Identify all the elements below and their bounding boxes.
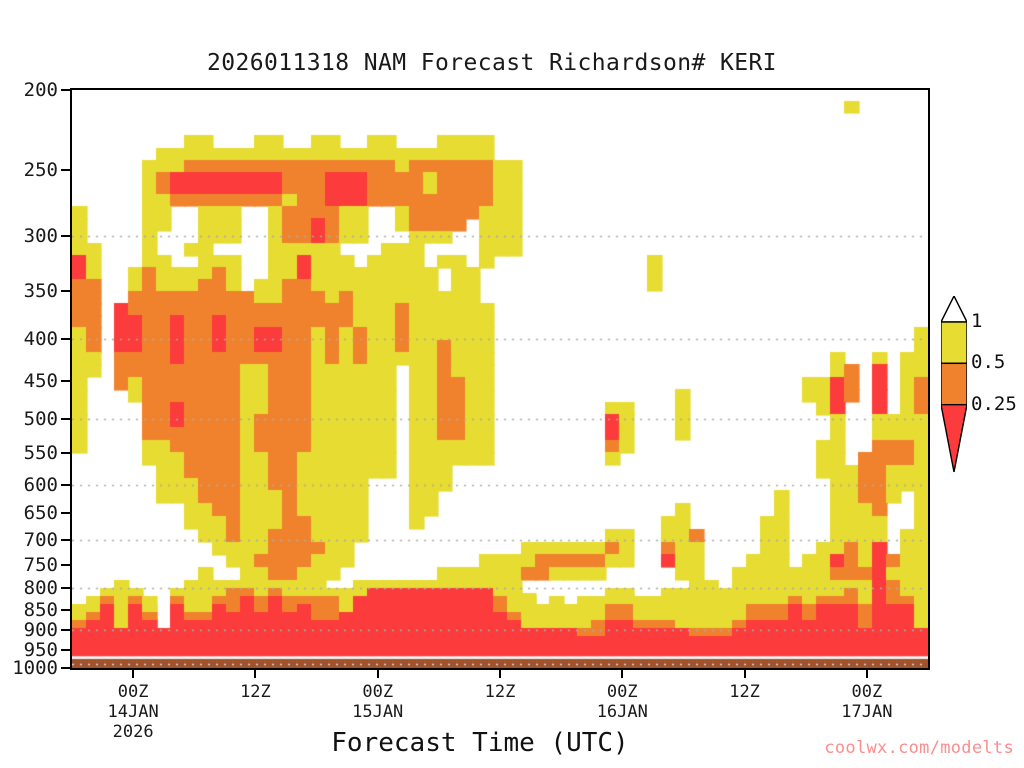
y-tick-mark [61, 609, 70, 611]
x-tick-mark [499, 670, 501, 678]
y-tick-mark [61, 169, 70, 171]
x-tick-label: 00Z17JAN [807, 682, 927, 722]
y-tick-label: 1000 [0, 657, 58, 679]
colorbar-band-lt-0_25 [941, 405, 967, 472]
y-tick-mark [61, 235, 70, 237]
y-tick-mark [61, 452, 70, 454]
colorbar-label: 0.5 [971, 351, 1005, 373]
y-tick-label: 250 [0, 159, 58, 181]
y-tick-label: 850 [0, 599, 58, 621]
x-tick-mark [377, 670, 379, 678]
x-tick-time: 00Z [73, 682, 193, 702]
x-tick-date: 16JAN [562, 702, 682, 722]
y-tick-mark [61, 89, 70, 91]
x-tick-mark [866, 670, 868, 678]
x-tick-mark [621, 670, 623, 678]
y-tick-mark [61, 667, 70, 669]
colorbar-band-gt-1 [941, 296, 967, 322]
plot-area [70, 88, 930, 670]
y-tick-label: 400 [0, 328, 58, 350]
x-tick-mark [744, 670, 746, 678]
x-tick-date: 14JAN [73, 702, 193, 722]
page-title: 2026011318 NAM Forecast Richardson# KERI [0, 50, 1004, 76]
x-tick-label: 12Z [440, 682, 560, 702]
x-tick-mark [254, 670, 256, 678]
x-tick-date: 17JAN [807, 702, 927, 722]
y-tick-mark [61, 380, 70, 382]
colorbar-label: 1 [971, 310, 982, 332]
y-tick-label: 300 [0, 225, 58, 247]
x-axis-title: Forecast Time (UTC) [50, 728, 910, 758]
y-tick-mark [61, 338, 70, 340]
y-tick-mark [61, 564, 70, 566]
x-tick-time: 00Z [807, 682, 927, 702]
y-tick-label: 700 [0, 529, 58, 551]
heatmap-canvas [72, 90, 928, 668]
colorbar-band-0.5-1 [941, 322, 967, 363]
x-tick-label: 12Z [195, 682, 315, 702]
chart-root: 2026011318 NAM Forecast Richardson# KERI… [0, 0, 1024, 768]
y-tick-mark [61, 418, 70, 420]
y-tick-label: 200 [0, 79, 58, 101]
y-tick-label: 350 [0, 280, 58, 302]
x-tick-label: 12Z [685, 682, 805, 702]
y-tick-label: 600 [0, 474, 58, 496]
watermark: coolwx.com/modelts [824, 738, 1014, 758]
x-tick-time: 12Z [440, 682, 560, 702]
y-tick-label: 500 [0, 408, 58, 430]
y-tick-mark [61, 649, 70, 651]
y-tick-mark [61, 484, 70, 486]
y-tick-mark [61, 512, 70, 514]
y-tick-mark [61, 587, 70, 589]
x-tick-label: 00Z15JAN [318, 682, 438, 722]
y-tick-mark [61, 290, 70, 292]
colorbar-label: 0.25 [971, 393, 1017, 415]
colorbar-band-0.25-0.5 [941, 363, 967, 404]
x-tick-label: 00Z16JAN [562, 682, 682, 722]
x-tick-mark [132, 670, 134, 678]
colorbar-body [941, 296, 967, 472]
y-tick-label: 800 [0, 577, 58, 599]
y-tick-label: 750 [0, 554, 58, 576]
x-tick-time: 12Z [195, 682, 315, 702]
y-tick-mark [61, 539, 70, 541]
colorbar-legend [941, 296, 967, 472]
x-tick-time: 00Z [562, 682, 682, 702]
x-tick-time: 00Z [318, 682, 438, 702]
x-tick-time: 12Z [685, 682, 805, 702]
y-tick-mark [61, 629, 70, 631]
y-tick-label: 550 [0, 442, 58, 464]
y-tick-label: 450 [0, 370, 58, 392]
x-tick-date: 15JAN [318, 702, 438, 722]
y-tick-label: 650 [0, 502, 58, 524]
